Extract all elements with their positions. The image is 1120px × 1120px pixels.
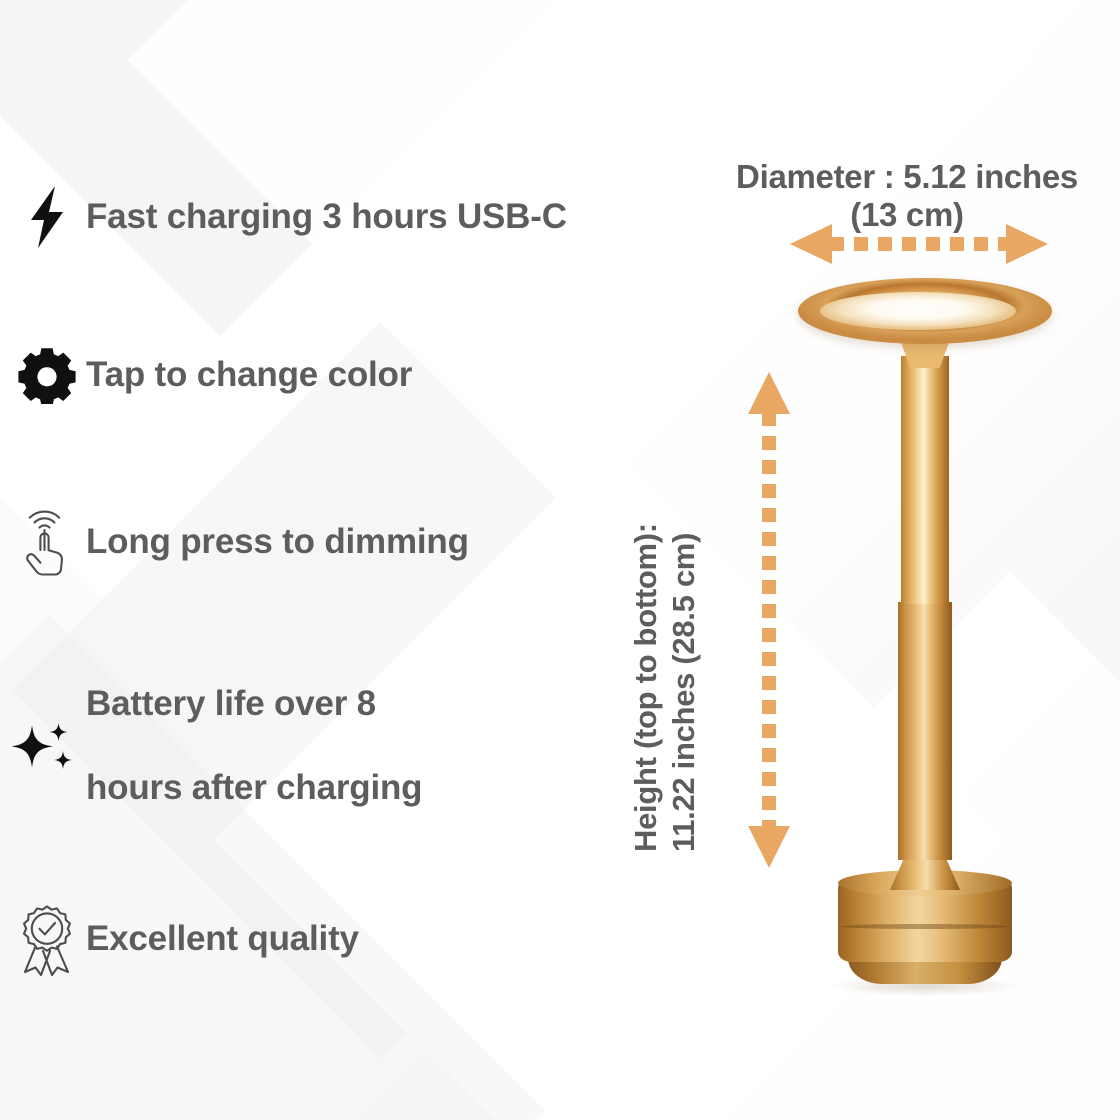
award-badge-icon [8, 902, 86, 976]
diameter-label: Diameter : 5.12 inches (13 cm) [694, 158, 1120, 234]
diameter-dimension-arrow [790, 224, 1048, 264]
arrow-head-down-icon [748, 826, 790, 868]
feature-label: Fast charging 3 hours USB-C [86, 195, 567, 239]
lamp-base-groove [840, 924, 1010, 929]
dashed-shaft [762, 412, 776, 828]
arrow-head-right-icon [1006, 224, 1048, 264]
product-infographic: Fast charging 3 hours USB-C Tap to chang… [0, 0, 1120, 1120]
lamp-stem-lower [898, 602, 952, 860]
feature-label: Battery life over 8 hours after charging [86, 662, 422, 830]
diameter-label-line1: Diameter : 5.12 inches [736, 158, 1078, 195]
height-dimension-arrow [748, 372, 790, 868]
feature-row-long-press-dimming[interactable]: Long press to dimming [8, 506, 469, 578]
dashed-shaft [830, 237, 1008, 251]
arrow-head-up-icon [748, 372, 790, 414]
height-label-line1: Height (top to bottom): [627, 392, 665, 852]
feature-row-excellent-quality[interactable]: Excellent quality [8, 902, 359, 976]
feature-list: Fast charging 3 hours USB-C Tap to chang… [0, 0, 700, 1120]
lightning-bolt-icon [8, 186, 86, 248]
lamp-stem-upper [901, 356, 949, 604]
tap-gesture-icon [8, 506, 86, 578]
product-image-cordless-table-lamp [790, 278, 1060, 928]
feature-row-tap-color[interactable]: Tap to change color [8, 346, 412, 404]
feature-row-fast-charging[interactable]: Fast charging 3 hours USB-C [8, 186, 567, 248]
arrow-head-left-icon [790, 224, 832, 264]
gear-icon [8, 346, 86, 404]
feature-row-battery-life[interactable]: Battery life over 8 hours after charging [8, 662, 422, 830]
feature-label: Long press to dimming [86, 520, 469, 564]
height-label: Height (top to bottom): 11.22 inches (28… [600, 392, 730, 852]
sparkles-icon [8, 711, 86, 781]
feature-label: Excellent quality [86, 917, 359, 961]
lamp-light-panel [820, 292, 1016, 330]
feature-label: Tap to change color [86, 353, 412, 397]
height-label-line2: 11.22 inches (28.5 cm) [665, 392, 703, 852]
